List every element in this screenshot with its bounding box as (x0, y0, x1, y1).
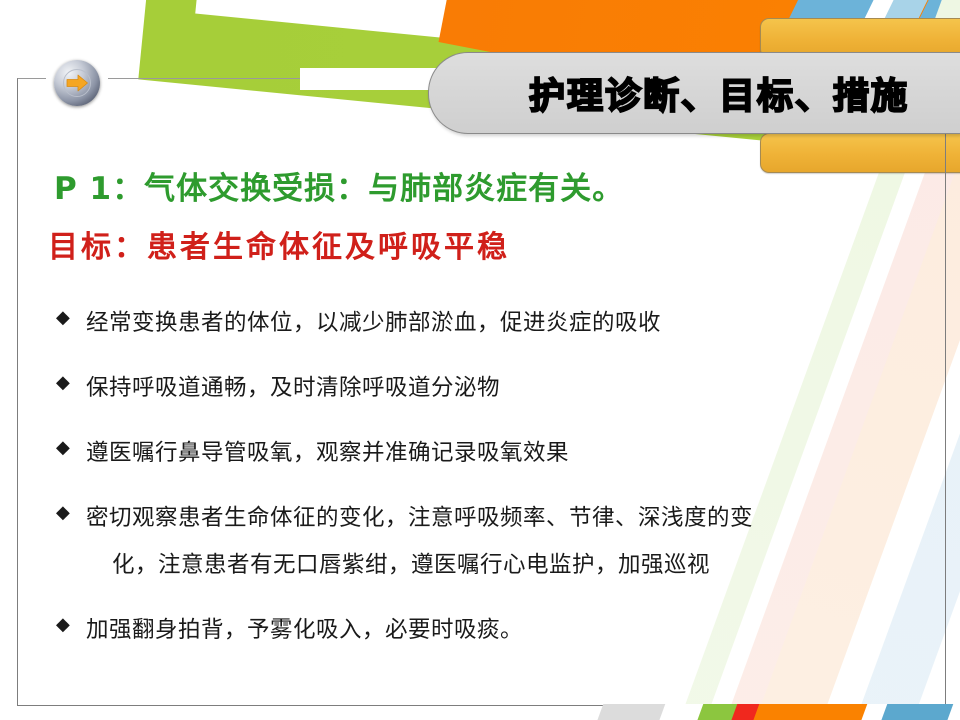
list-item-line-1: 密切观察患者生命体征的变化，注意呼吸频率、节律、深浅度的变 (86, 505, 753, 531)
nursing-measures-list: ◆ 经常变换患者的体位，以减少肺部淤血，促进炎症的吸收 ◆ 保持呼吸道通畅，及时… (56, 300, 886, 672)
strip-band-blue (878, 704, 956, 720)
diamond-bullet-icon: ◆ (56, 607, 86, 641)
bottom-color-strip (0, 704, 960, 720)
diamond-bullet-icon: ◆ (56, 430, 86, 464)
list-item-text: 经常变换患者的体位，以减少肺部淤血，促进炎症的吸收 (86, 300, 661, 347)
nursing-goal-heading: 目标：患者生命体征及呼吸平稳 (48, 222, 510, 266)
list-item-text: 保持呼吸道通畅，及时清除呼吸道分泌物 (86, 365, 500, 412)
slide-body: P 1：气体交换受损：与肺部炎症有关。 目标：患者生命体征及呼吸平稳 ◆ 经常变… (0, 0, 960, 720)
list-item: ◆ 遵医嘱行鼻导管吸氧，观察并准确记录吸氧效果 (56, 430, 886, 477)
list-item: ◆ 经常变换患者的体位，以减少肺部淤血，促进炎症的吸收 (56, 300, 886, 347)
list-item-line-2: 化，注意患者有无口唇紫绀，遵医嘱行心电监护，加强巡视 (86, 542, 753, 589)
presentation-slide: 护理诊断、目标、措施 P 1：气体交换受损：与肺部炎症有关。 目标：患者生命体征… (0, 0, 960, 720)
nursing-diagnosis-heading: P 1：气体交换受损：与肺部炎症有关。 (54, 163, 624, 208)
diamond-bullet-icon: ◆ (56, 495, 86, 529)
list-item: ◆ 加强翻身拍背，予雾化吸入，必要时吸痰。 (56, 607, 886, 654)
list-item: ◆ 保持呼吸道通畅，及时清除呼吸道分泌物 (56, 365, 886, 412)
diamond-bullet-icon: ◆ (56, 365, 86, 399)
list-item-text: 遵医嘱行鼻导管吸氧，观察并准确记录吸氧效果 (86, 430, 569, 477)
list-item-text: 加强翻身拍背，予雾化吸入，必要时吸痰。 (86, 607, 523, 654)
list-item-text: 密切观察患者生命体征的变化，注意呼吸频率、节律、深浅度的变化，注意患者有无口唇紫… (86, 495, 753, 589)
strip-band-orange (750, 704, 872, 720)
list-item: ◆ 密切观察患者生命体征的变化，注意呼吸频率、节律、深浅度的变化，注意患者有无口… (56, 495, 886, 589)
diamond-bullet-icon: ◆ (56, 300, 86, 334)
